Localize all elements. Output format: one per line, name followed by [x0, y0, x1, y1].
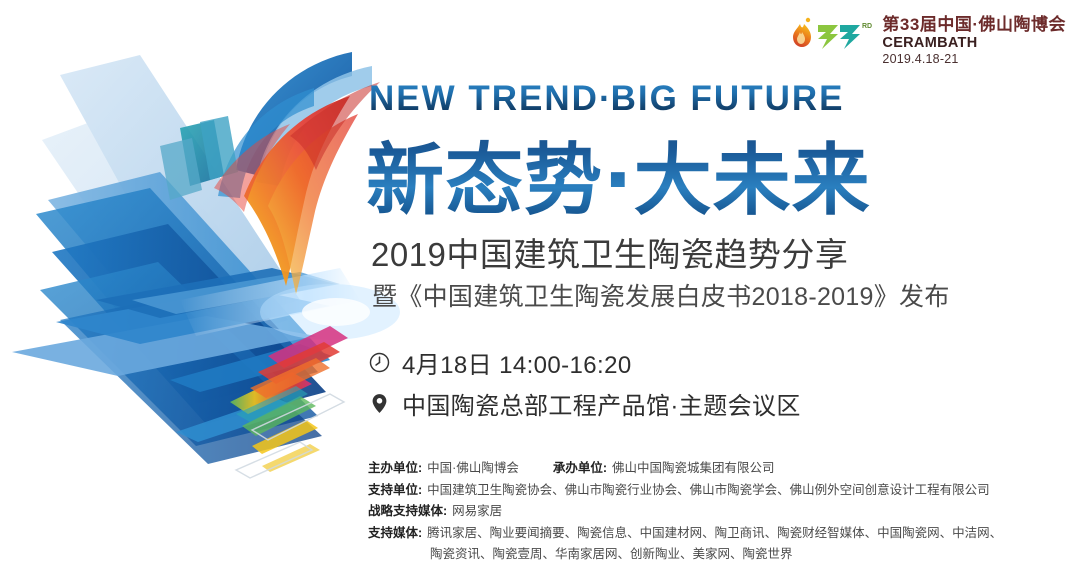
headline-chinese-separator: ·	[603, 136, 634, 226]
credits-block: 主办单位:中国·佛山陶博会承办单位:佛山中国陶瓷城集团有限公司 支持单位:中国建…	[368, 458, 1008, 566]
support-media-value-continued: 陶瓷资讯、陶瓷壹周、华南家居网、创新陶业、美家网、陶瓷世界	[368, 544, 1008, 566]
organizer-value: 中国·佛山陶博会	[427, 461, 519, 475]
credit-line-support-units: 支持单位:中国建筑卫生陶瓷协会、佛山市陶瓷行业协会、佛山市陶瓷学会、佛山例外空间…	[368, 480, 1008, 502]
credit-line-strategic-media: 战略支持媒体:网易家居	[368, 501, 1008, 523]
event-time-row: 4月18日 14:00-16:20	[368, 345, 632, 380]
support-units-value: 中国建筑卫生陶瓷协会、佛山市陶瓷行业协会、佛山市陶瓷学会、佛山例外空间创意设计工…	[427, 483, 990, 497]
credit-line-support-media: 支持媒体:腾讯家居、陶业要闻摘要、陶瓷信息、中国建材网、陶卫商讯、陶瓷财经智媒体…	[368, 523, 1008, 545]
host-label: 承办单位:	[553, 461, 607, 475]
clock-icon	[368, 351, 391, 374]
headline-english-part2: BIG FUTURE	[611, 79, 845, 118]
support-media-value: 腾讯家居、陶业要闻摘要、陶瓷信息、中国建材网、陶卫商讯、陶瓷财经智媒体、中国陶瓷…	[427, 526, 1002, 540]
credit-line-organizer: 主办单位:中国·佛山陶博会承办单位:佛山中国陶瓷城集团有限公司	[368, 458, 1008, 480]
event-place-text: 中国陶瓷总部工程产品馆·主题会议区	[402, 386, 801, 421]
headline-english-part1: NEW TREND	[369, 79, 599, 118]
poster-canvas: RD 第33届中国·佛山陶博会 CERAMBATH 2019.4.18-21 N…	[0, 0, 1080, 585]
event-place-row: 中国陶瓷总部工程产品馆·主题会议区	[368, 386, 801, 421]
support-media-label: 支持媒体:	[368, 526, 422, 540]
headline-chinese-part2: 大未来	[634, 136, 871, 226]
map-pin-icon	[368, 392, 391, 415]
strategic-media-value: 网易家居	[452, 504, 502, 518]
event-time-text: 4月18日 14:00-16:20	[402, 345, 632, 380]
support-units-label: 支持单位:	[368, 483, 422, 497]
strategic-media-label: 战略支持媒体:	[368, 504, 447, 518]
host-value: 佛山中国陶瓷城集团有限公司	[612, 461, 775, 475]
headline-chinese: 新态势·大未来	[366, 118, 871, 230]
content-column: NEW TREND·BIG FUTURE 新态势·大未来 2019中国建筑卫生陶…	[366, 0, 1066, 585]
abstract-blue-shards-graphic	[0, 0, 400, 585]
subtitle-line-2: 暨《中国建筑卫生陶瓷发展白皮书2018-2019》发布	[372, 277, 950, 313]
headline-chinese-part1: 新态势	[366, 136, 603, 226]
subtitle-line-1: 2019中国建筑卫生陶瓷趋势分享	[371, 228, 848, 276]
headline-english: NEW TREND·BIG FUTURE	[369, 79, 844, 119]
headline-english-separator: ·	[599, 79, 611, 118]
organizer-label: 主办单位:	[368, 461, 422, 475]
